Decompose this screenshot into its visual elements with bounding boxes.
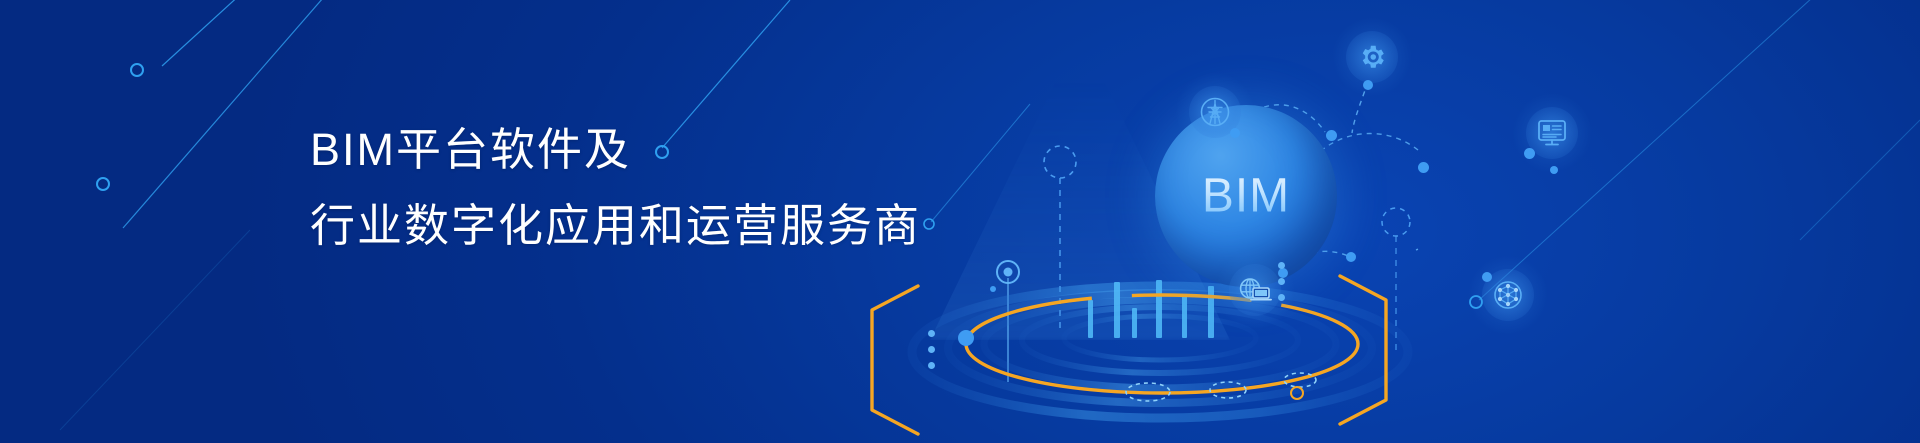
headline-line-2: 行业数字化应用和运营服务商 (310, 188, 950, 264)
accent-dot (990, 286, 996, 292)
connector-node-dot (1418, 162, 1429, 173)
bracket-left (860, 280, 930, 440)
page-title: BIM平台软件及 行业数字化应用和运营服务商 (310, 112, 950, 264)
connector-node-dot (1230, 128, 1240, 138)
badge-glow (1175, 72, 1255, 152)
badge-glow (1512, 93, 1592, 173)
bracket-right (1328, 270, 1398, 430)
connector-node-dot (1482, 272, 1492, 282)
orbit-marker-dot (1290, 386, 1304, 400)
dot-column-right (1278, 262, 1285, 310)
headline-line-1: BIM平台软件及 (310, 112, 950, 188)
bim-sphere-label: BIM (1155, 169, 1337, 224)
bim-illustration: BIM (860, 0, 1420, 443)
hero-banner: BIM平台软件及 行业数字化应用和运营服务商 (0, 0, 1920, 443)
connector-node-dot (1326, 130, 1337, 141)
badge-glow (1468, 255, 1548, 335)
connector-node-dot (1346, 252, 1356, 262)
accent-dot-large (958, 330, 974, 346)
connector-node-dot (1524, 148, 1535, 159)
connector-node-dot (1550, 166, 1558, 174)
globe-laptop-icon-badge[interactable] (1229, 264, 1281, 316)
gear-icon-badge[interactable] (1346, 31, 1398, 83)
connector-node-dot (1363, 80, 1373, 90)
